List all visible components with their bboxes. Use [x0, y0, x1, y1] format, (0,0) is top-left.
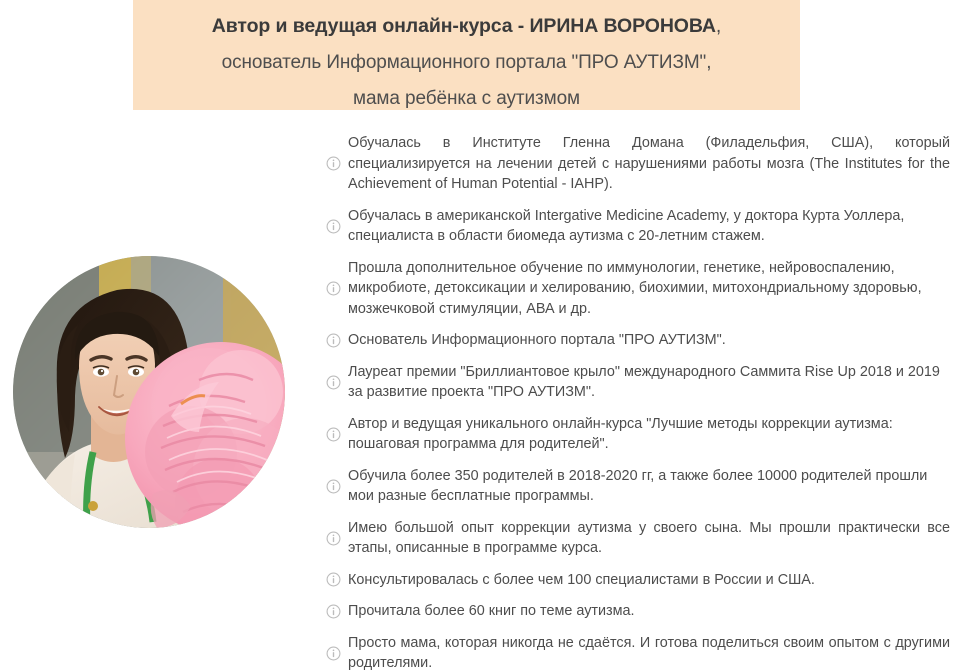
list-item-text: Консультировалась с более чем 100 специа…: [348, 570, 950, 591]
info-circle-icon: [318, 281, 348, 296]
list-item: Основатель Информационного портала "ПРО …: [318, 330, 950, 351]
list-item: Просто мама, которая никогда не сдаётся.…: [318, 633, 950, 670]
list-item-text: Просто мама, которая никогда не сдаётся.…: [348, 633, 950, 670]
info-circle-icon: [318, 479, 348, 494]
list-item-text: Прошла дополнительное обучение по иммуно…: [348, 258, 950, 320]
list-item: Обучалась в Институте Гленна Домана (Фил…: [318, 133, 950, 195]
info-circle-icon: [318, 333, 348, 348]
list-item-text: Обучила более 350 родителей в 2018-2020 …: [348, 466, 950, 507]
list-item-text: Лауреат премии "Бриллиантовое крыло" меж…: [348, 362, 950, 403]
info-circle-icon: [318, 219, 348, 234]
info-circle-icon: [318, 646, 348, 661]
banner-line-2: основатель Информационного портала "ПРО …: [133, 43, 800, 79]
list-item-text: Обучалась в американской Intergative Med…: [348, 206, 950, 247]
info-circle-icon: [318, 156, 348, 171]
info-circle-icon: [318, 375, 348, 390]
list-item: Автор и ведущая уникального онлайн-курса…: [318, 414, 950, 455]
list-item: Прочитала более 60 книг по теме аутизма.: [318, 601, 950, 622]
page-root: Автор и ведущая онлайн-курса - ИРИНА ВОР…: [0, 0, 960, 670]
info-circle-icon: [318, 572, 348, 587]
list-item: Имею большой опыт коррекции аутизма у св…: [318, 518, 950, 559]
list-item-text: Прочитала более 60 книг по теме аутизма.: [348, 601, 950, 622]
banner-line-1-bold: Автор и ведущая онлайн-курса - ИРИНА ВОР…: [212, 15, 716, 37]
avatar: [13, 256, 285, 528]
list-item: Прошла дополнительное обучение по иммуно…: [318, 258, 950, 320]
list-item-text: Обучалась в Институте Гленна Домана (Фил…: [348, 133, 950, 195]
list-item: Обучалась в американской Intergative Med…: [318, 206, 950, 247]
list-item-text: Автор и ведущая уникального онлайн-курса…: [348, 414, 950, 455]
list-item: Обучила более 350 родителей в 2018-2020 …: [318, 466, 950, 507]
avatar-photo-icon: [13, 256, 285, 528]
info-circle-icon: [318, 604, 348, 619]
list-item-text: Основатель Информационного портала "ПРО …: [348, 330, 950, 351]
header-banner: Автор и ведущая онлайн-курса - ИРИНА ВОР…: [133, 0, 800, 110]
list-item: Лауреат премии "Бриллиантовое крыло" меж…: [318, 362, 950, 403]
banner-line-1: Автор и ведущая онлайн-курса - ИРИНА ВОР…: [133, 6, 800, 43]
credentials-list: Обучалась в Институте Гленна Домана (Фил…: [318, 133, 950, 670]
banner-line-1-comma: ,: [716, 15, 721, 37]
list-item-text: Имею большой опыт коррекции аутизма у св…: [348, 518, 950, 559]
list-item: Консультировалась с более чем 100 специа…: [318, 570, 950, 591]
info-circle-icon: [318, 427, 348, 442]
banner-line-3: мама ребёнка с аутизмом: [133, 79, 800, 115]
info-circle-icon: [318, 531, 348, 546]
